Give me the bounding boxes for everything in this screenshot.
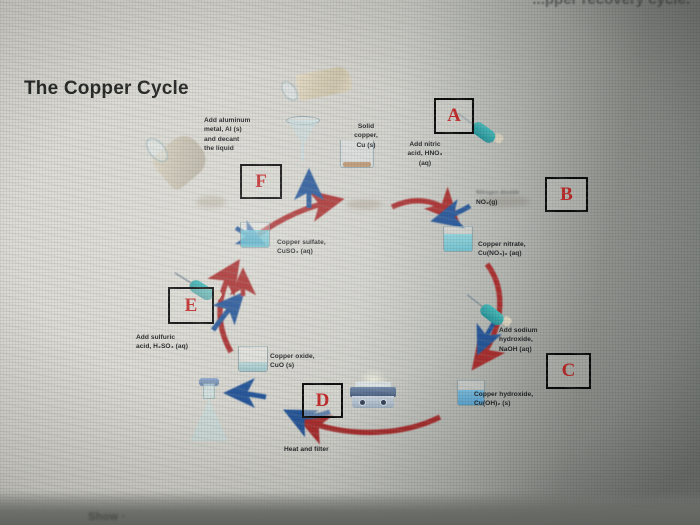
label-box-d-letter: D bbox=[316, 390, 330, 412]
label-box-f[interactable]: F bbox=[240, 164, 282, 199]
page-title: The Copper Cycle bbox=[24, 78, 189, 100]
copper-nitrate-beaker-icon bbox=[443, 226, 473, 252]
label-box-f-letter: F bbox=[255, 171, 267, 193]
label-box-e-letter: E bbox=[185, 295, 198, 317]
copper-oxide-beaker-icon bbox=[238, 346, 268, 372]
caption-add-nitric-acid: Add nitric acid, HNO₃ (aq) bbox=[396, 140, 454, 168]
copper-sulfate-beaker-icon bbox=[240, 222, 270, 248]
caption-heat-and-filter: Heat and filter bbox=[284, 445, 374, 454]
label-box-a-letter: A bbox=[447, 105, 461, 127]
label-box-b[interactable]: B bbox=[545, 177, 588, 212]
label-box-c[interactable]: C bbox=[546, 353, 591, 389]
caption-nitrogen-dioxide: NO₂(g) bbox=[476, 198, 536, 207]
label-box-c-letter: C bbox=[562, 360, 576, 382]
label-box-b-letter: B bbox=[560, 184, 573, 206]
caption-copper-hydroxide: Copper hydroxide, Cu(OH)₂ (s) bbox=[474, 390, 572, 409]
caption-add-sulfuric-acid: Add sulfuric acid, H₂SO₄ (aq) bbox=[136, 333, 218, 352]
caption-copper-oxide: Copper oxide, CuO (s) bbox=[270, 352, 350, 371]
caption-copper-nitrate: Copper nitrate, Cu(NO₃)₂ (aq) bbox=[478, 240, 574, 259]
caption-nitrogen-dioxide-name: Nitrogen dioxide bbox=[476, 190, 544, 198]
caption-copper-sulfate: Copper sulfate, CuSO₄ (aq) bbox=[277, 238, 371, 257]
bottom-edge-text: Show · bbox=[88, 511, 126, 523]
caption-add-aluminum: Add aluminum metal, Al (s) and decant th… bbox=[204, 116, 290, 153]
reagent-arrows bbox=[213, 178, 497, 417]
label-box-e[interactable]: E bbox=[168, 287, 214, 324]
caption-solid-copper: Solid copper, Cu (s) bbox=[338, 122, 394, 150]
photographed-screen: ...pper recovery cycle. bbox=[0, 0, 700, 525]
label-box-a[interactable]: A bbox=[434, 98, 474, 134]
caption-add-sodium-hydroxide: Add sodium hydroxide, NaOH (aq) bbox=[499, 326, 561, 354]
label-box-d[interactable]: D bbox=[302, 383, 343, 418]
